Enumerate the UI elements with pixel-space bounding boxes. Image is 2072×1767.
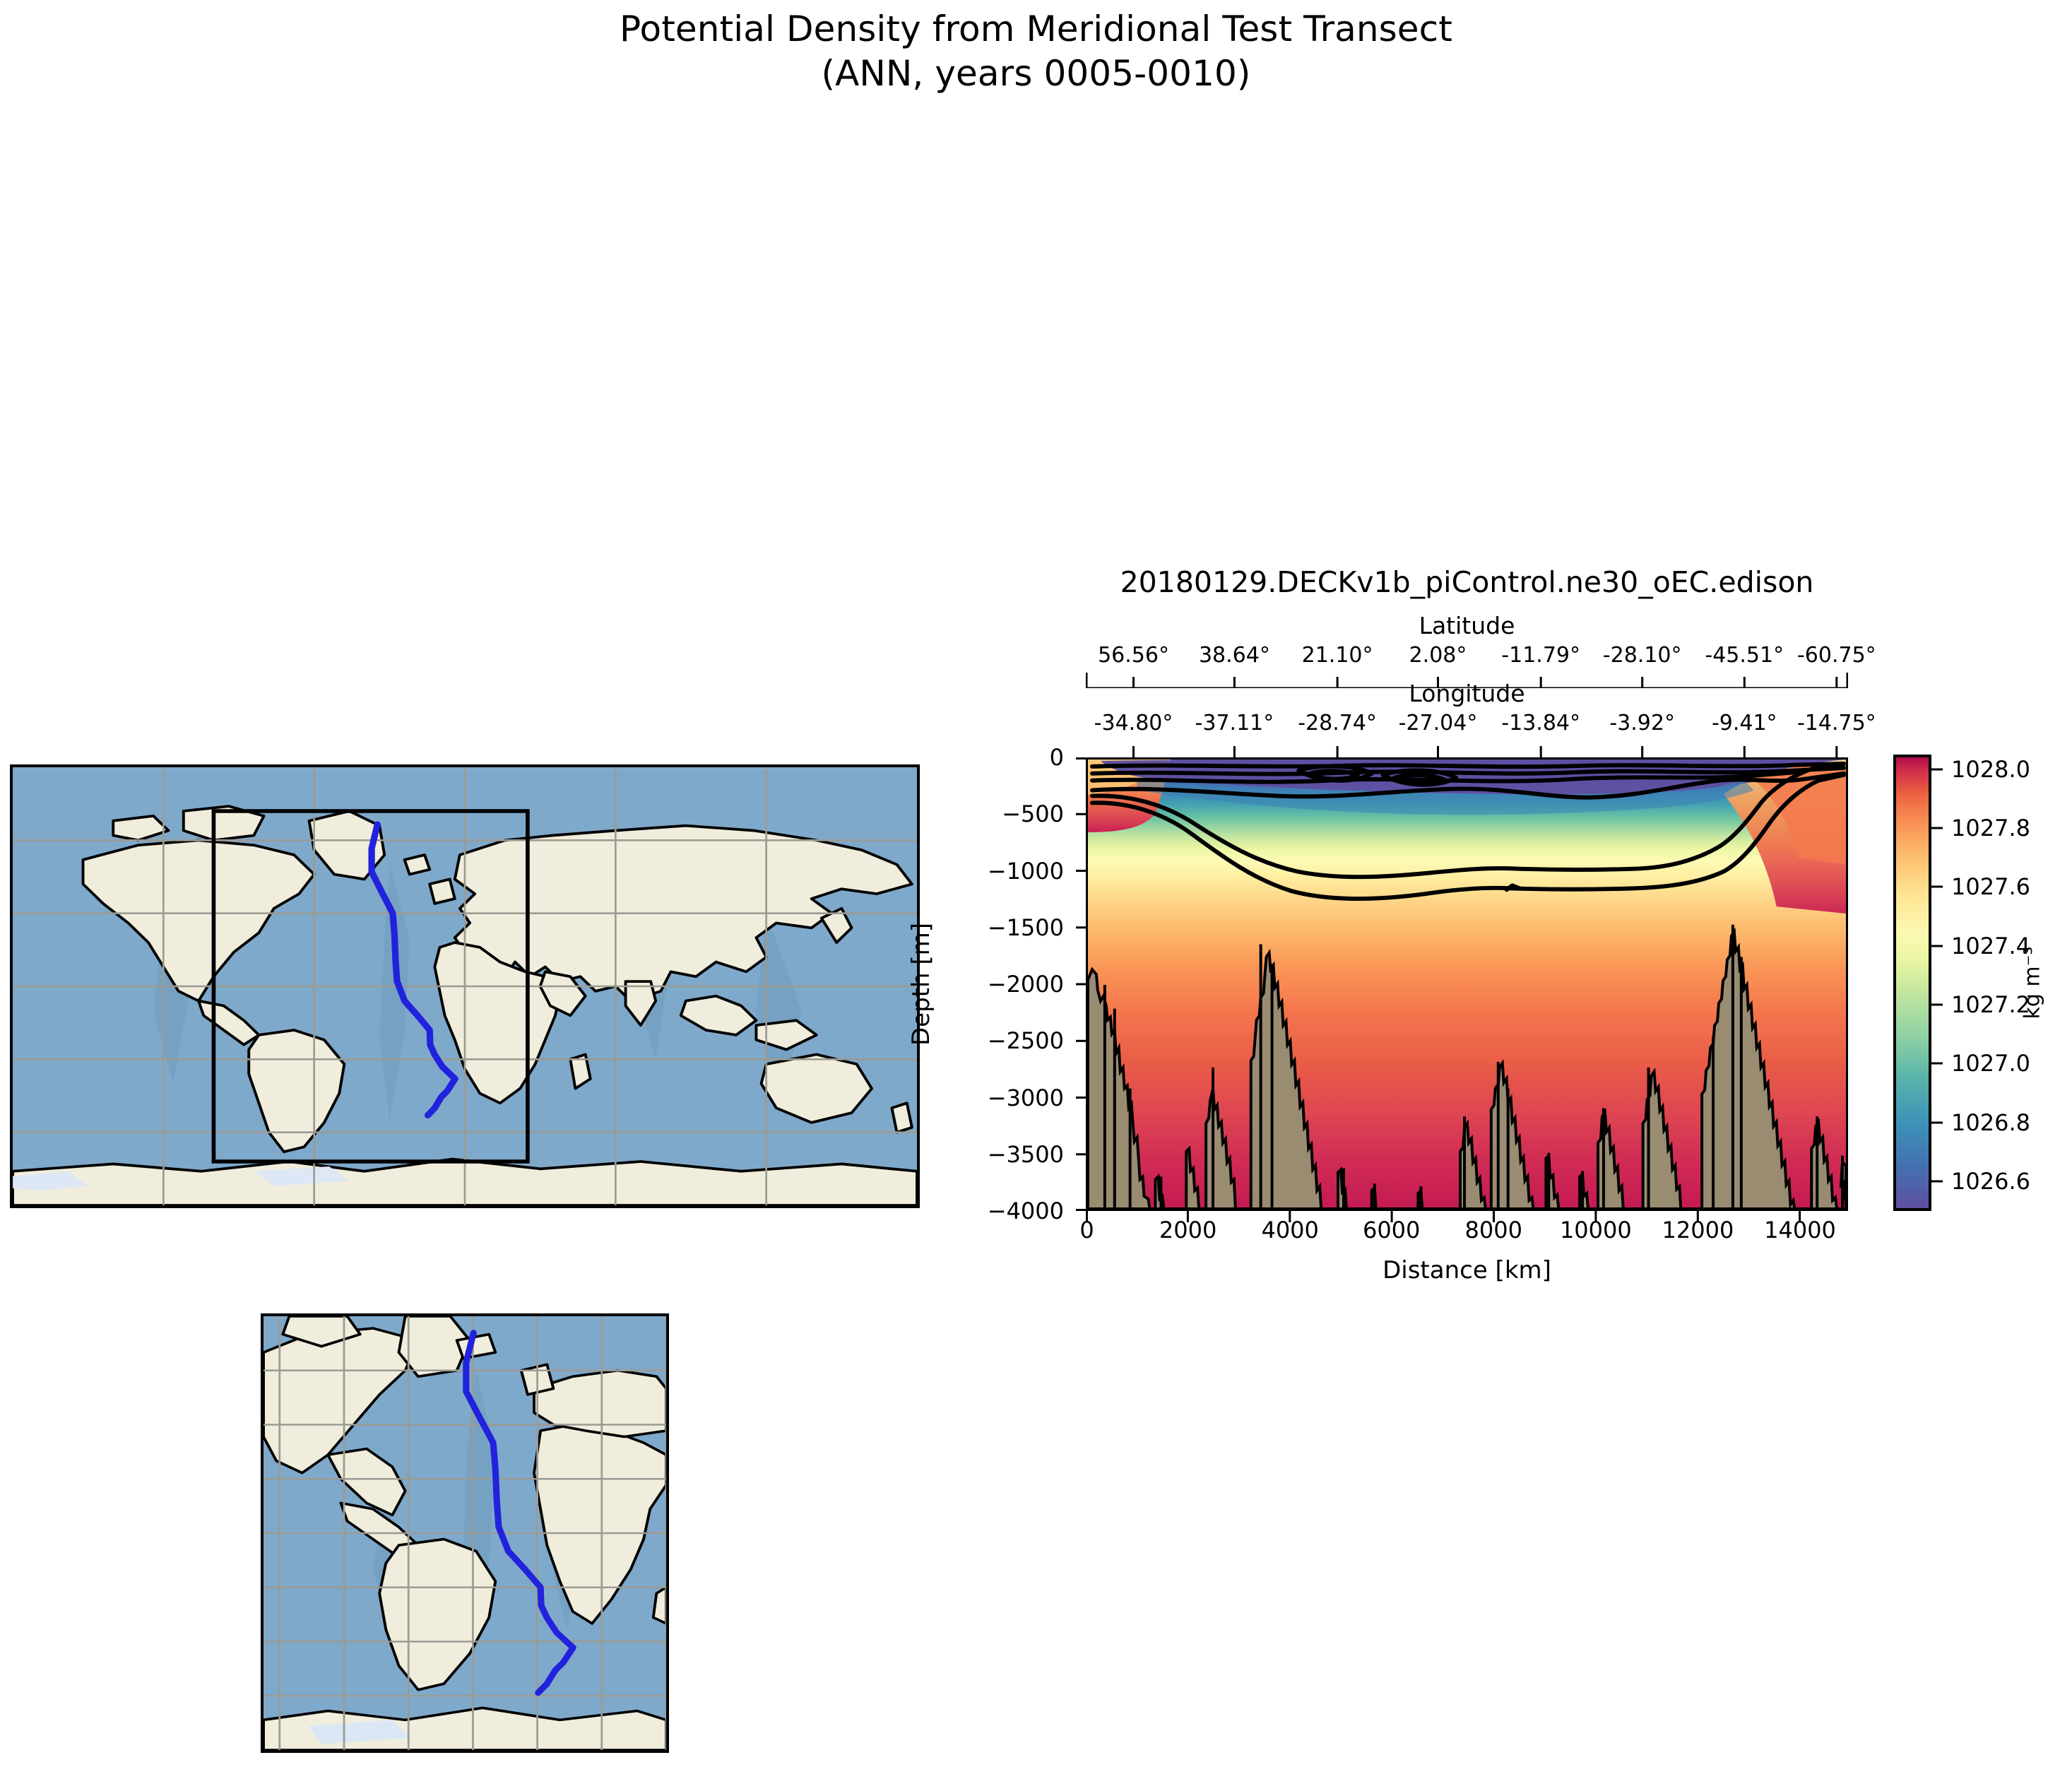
lat-tick: -60.75° [1797, 643, 1876, 668]
figure-title-line1: Potential Density from Meridional Test T… [620, 8, 1452, 49]
regional-map-canvas [264, 1316, 666, 1750]
distance-tick: 12000 [1662, 1217, 1734, 1243]
colorbar-tick [1931, 945, 1943, 947]
lat-tick: -28.10° [1603, 643, 1682, 668]
colorbar-tick [1931, 1181, 1943, 1183]
lon-tick: -37.11° [1195, 711, 1274, 735]
lat-tick: -11.79° [1501, 643, 1580, 668]
colorbar-tick [1931, 886, 1943, 888]
transect-canvas [1088, 760, 1846, 1209]
colorbar-tick [1931, 827, 1943, 829]
lat-tick: 56.56° [1098, 643, 1169, 668]
lon-tick: -13.84° [1501, 711, 1580, 735]
depth-tick: −2500 [988, 1027, 1064, 1054]
colorbar-tick [1931, 1121, 1943, 1123]
longitude-axis-label: Longitude [1086, 680, 1848, 707]
colorbar-tick-label: 1027.2 [1951, 991, 2030, 1018]
depth-tick-marks [1073, 757, 1087, 1211]
transect-plot-frame [1086, 757, 1848, 1211]
colorbar-tick-label: 1027.4 [1951, 933, 2030, 959]
colorbar-tick [1931, 768, 1943, 770]
longitude-tick-labels: -34.80° -37.11° -28.74° -27.04° -13.84° … [1086, 711, 1848, 739]
colorbar-tick-label: 1027.6 [1951, 873, 2030, 900]
colorbar-tick-label: 1028.0 [1951, 756, 2030, 783]
depth-tick: −2000 [988, 971, 1064, 998]
colorbar-tick-label: 1027.0 [1951, 1050, 2030, 1077]
distance-tick: 4000 [1261, 1217, 1318, 1243]
depth-axis-title: Depth [m] [907, 923, 935, 1046]
regional-transect-map[interactable] [261, 1313, 669, 1753]
latitude-axis-label: Latitude [1086, 612, 1848, 639]
colorbar-tick [1931, 1004, 1943, 1006]
lon-tick: -28.74° [1298, 711, 1377, 735]
colorbar-tick [1931, 1063, 1943, 1065]
density-colorbar[interactable]: 1028.0 1027.8 1027.6 1027.4 1027.2 1027.… [1893, 755, 1931, 1211]
longitude-tick-marks [1086, 740, 1848, 757]
depth-tick: −4000 [988, 1198, 1064, 1224]
distance-tick: 8000 [1465, 1217, 1522, 1243]
colorbar-gradient [1893, 755, 1931, 1211]
colorbar-tick-label: 1026.6 [1951, 1168, 2030, 1195]
lat-tick: 21.10° [1302, 643, 1373, 668]
latitude-tick-labels: 56.56° 38.64° 21.10° 2.08° -11.79° -28.1… [1086, 643, 1848, 671]
depth-tick: −3000 [988, 1085, 1064, 1111]
depth-tick: −3500 [988, 1141, 1064, 1168]
global-transect-map[interactable] [10, 764, 920, 1208]
lon-tick: -3.92° [1609, 711, 1675, 735]
distance-tick: 10000 [1560, 1217, 1632, 1243]
depth-tick: 0 [1050, 744, 1064, 771]
distance-axis-title: Distance [km] [1086, 1256, 1848, 1284]
distance-tick: 2000 [1159, 1217, 1216, 1243]
distance-tick: 6000 [1363, 1217, 1420, 1243]
transect-cross-section[interactable] [1086, 757, 1848, 1211]
depth-tick: −1500 [988, 914, 1064, 941]
lon-tick: -34.80° [1094, 711, 1173, 735]
lon-tick: -9.41° [1712, 711, 1777, 735]
lat-tick: -45.51° [1705, 643, 1784, 668]
lat-tick: 2.08° [1409, 643, 1467, 668]
depth-tick: −1000 [988, 858, 1064, 885]
depth-axis-tick-labels: 0 −500 −1000 −1500 −2000 −2500 −3000 −35… [975, 757, 1074, 1211]
figure-title: Potential Density from Meridional Test T… [0, 7, 2072, 96]
figure-title-line2: (ANN, years 0005-0010) [0, 52, 2072, 96]
distance-axis-tick-labels: 0 2000 4000 6000 8000 10000 12000 14000 [1086, 1217, 1848, 1248]
lon-tick: -14.75° [1797, 711, 1876, 735]
colorbar-tick-label: 1027.8 [1951, 815, 2030, 841]
depth-tick: −500 [1002, 800, 1064, 827]
colorbar-tick-label: 1026.8 [1951, 1109, 2030, 1136]
subplot-title: 20180129.DECKv1b_piControl.ne30_oEC.edis… [1086, 565, 1848, 599]
lat-tick: 38.64° [1199, 643, 1270, 668]
global-map-canvas [13, 767, 917, 1205]
distance-tick: 14000 [1764, 1217, 1836, 1243]
lon-tick: -27.04° [1399, 711, 1478, 735]
colorbar-unit-label: kg m⁻³ [2020, 946, 2045, 1019]
distance-tick: 0 [1079, 1217, 1094, 1243]
